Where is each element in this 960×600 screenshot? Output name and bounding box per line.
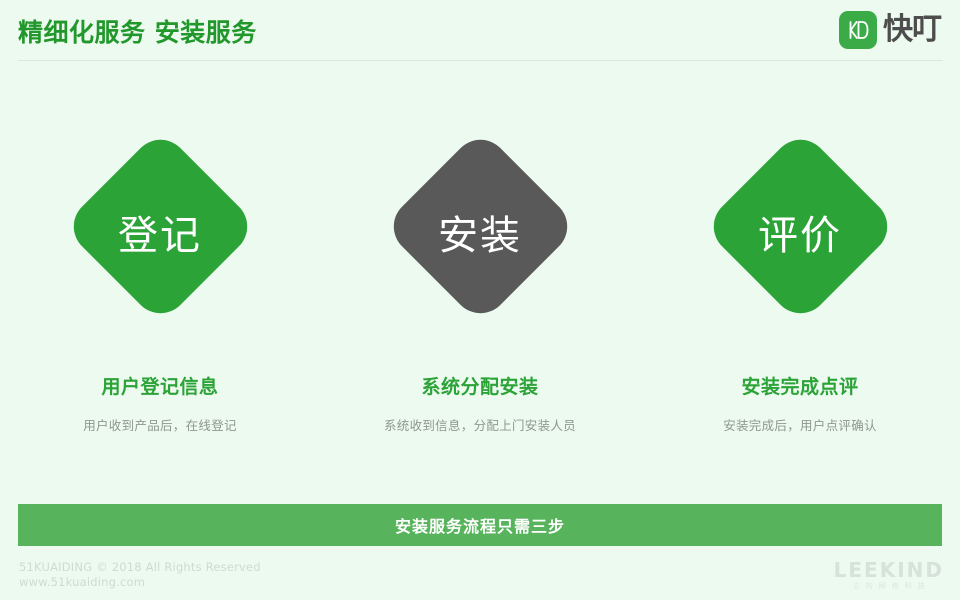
- step-item: 安装 系统分配安装 系统收到信息，分配上门安装人员: [320, 128, 640, 434]
- summary-banner: 安装服务流程只需三步: [18, 504, 942, 546]
- footer-website: www.51kuaiding.com: [19, 575, 261, 590]
- slide-root: 精细化服务 安装服务 快叮 登记 用户登记信息 用户收到产品后，在线登记: [0, 0, 960, 600]
- brand-logo: 快叮: [839, 11, 941, 49]
- page-title: 精细化服务 安装服务: [18, 13, 257, 49]
- step-item: 登记 用户登记信息 用户收到产品后，在线登记: [0, 128, 320, 434]
- steps-row: 登记 用户登记信息 用户收到产品后，在线登记 安装 系统分配安装 系统收到信息，…: [0, 128, 960, 434]
- footer-copyright-block: 51KUAIDING © 2018 All Rights Reserved ww…: [19, 560, 261, 590]
- step-badge-label: 安装: [438, 203, 522, 261]
- footer-logo-name: LEEKIND: [834, 559, 944, 581]
- step-description: 用户收到产品后，在线登记: [83, 415, 237, 434]
- kd-monogram-icon: [839, 11, 877, 49]
- summary-banner-text: 安装服务流程只需三步: [395, 513, 565, 537]
- step-badge-label: 评价: [758, 203, 842, 261]
- page-header: 精细化服务 安装服务 快叮: [0, 0, 960, 61]
- header-divider: [18, 60, 943, 61]
- step-badge-label: 登记: [118, 203, 202, 261]
- step-item: 评价 安装完成点评 安装完成后，用户点评确认: [640, 128, 960, 434]
- footer-logo: LEEKIND 立的网络科技: [834, 559, 944, 591]
- footer-copyright: 51KUAIDING © 2018 All Rights Reserved: [19, 560, 261, 575]
- step-badge: 登记: [62, 128, 258, 324]
- step-badge: 评价: [702, 128, 898, 324]
- step-title: 安装完成点评: [741, 372, 858, 399]
- step-title: 用户登记信息: [101, 372, 218, 399]
- page-footer: 51KUAIDING © 2018 All Rights Reserved ww…: [0, 556, 960, 600]
- step-description: 系统收到信息，分配上门安装人员: [384, 415, 576, 434]
- step-description: 安装完成后，用户点评确认: [723, 415, 877, 434]
- step-title: 系统分配安装: [421, 372, 538, 399]
- footer-logo-subtitle: 立的网络科技: [834, 581, 944, 591]
- step-badge: 安装: [382, 128, 578, 324]
- brand-name: 快叮: [883, 11, 941, 49]
